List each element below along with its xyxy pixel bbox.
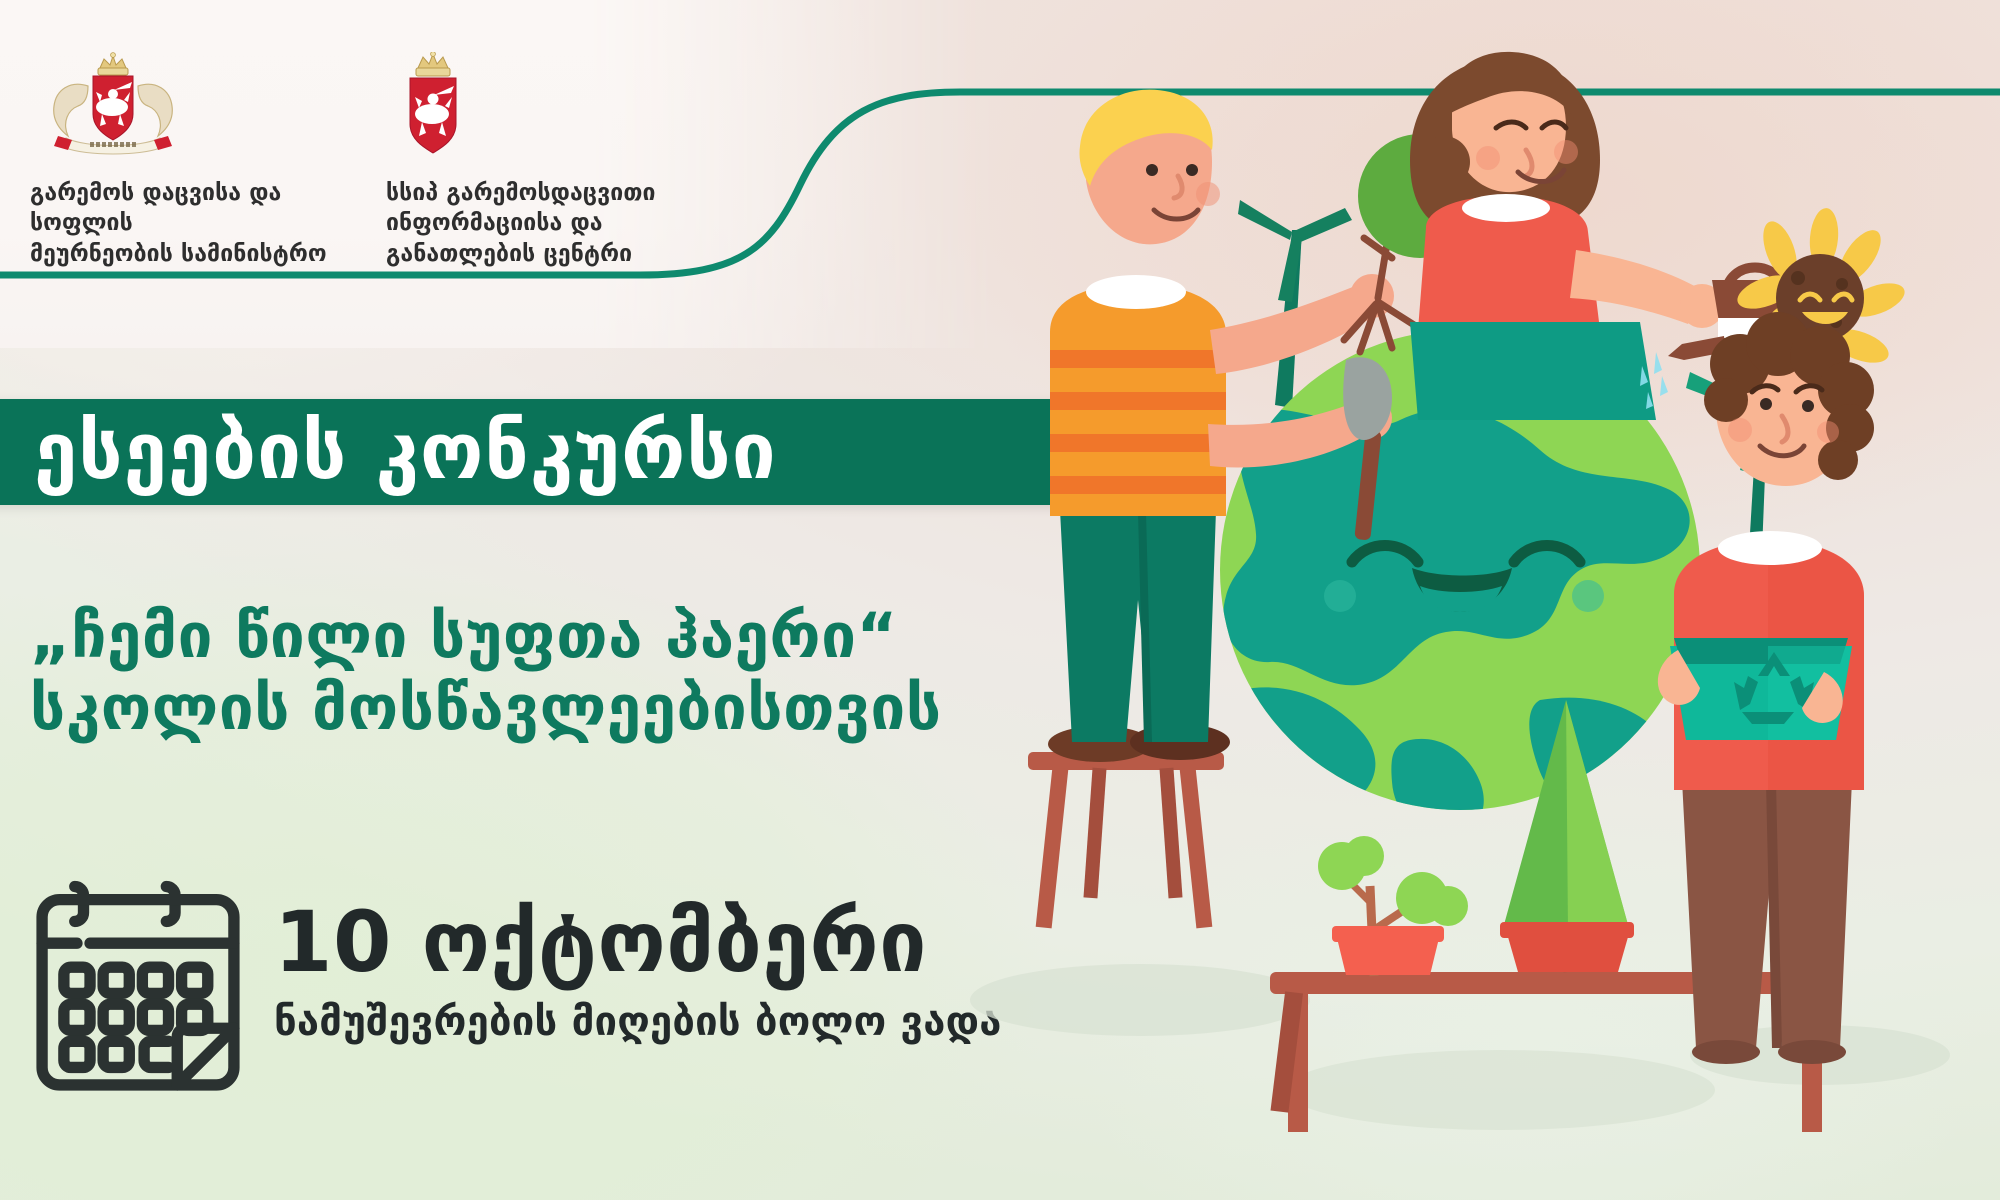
poster-root: გარემოს დაცვისა და სოფლის მეურნეობის სამ… [0, 0, 2000, 1200]
logo-ministry: გარემოს დაცვისა და სოფლის მეურნეობის სამ… [30, 50, 360, 269]
logo-ministry-caption: გარემოს დაცვისა და სოფლის მეურნეობის სამ… [30, 178, 360, 269]
potted-sapling-left [1318, 836, 1468, 976]
deadline-block: 10 ოქტომბერი ნამუშევრების მიღების ბოლო ვ… [28, 880, 1002, 1098]
logo-bar: გარემოს დაცვისა და სოფლის მეურნეობის სამ… [0, 50, 900, 269]
deadline-date: 10 ოქტომბერი [274, 900, 1002, 984]
deadline-texts: 10 ოქტომბერი ნამუშევრების მიღების ბოლო ვ… [274, 900, 1002, 1042]
georgia-greater-coat-of-arms-icon [30, 50, 195, 160]
logo-center-caption: სსიპ გარემოსდაცვითი ინფორმაციისა და განა… [386, 178, 686, 269]
georgia-lesser-coat-of-arms-icon [386, 50, 686, 160]
calendar-icon [28, 880, 248, 1098]
deadline-note: ნამუშევრების მიღების ბოლო ვადა [274, 1002, 1002, 1042]
page-title: ესეების კონკურსი [34, 413, 777, 491]
boy-holding-recycling-bin [1658, 312, 1874, 1064]
wooden-stool [1028, 752, 1224, 928]
logo-center: სსიპ გარემოსდაცვითი ინფორმაციისა და განა… [386, 50, 686, 269]
kids-planting-earth-illustration [940, 0, 2000, 1200]
